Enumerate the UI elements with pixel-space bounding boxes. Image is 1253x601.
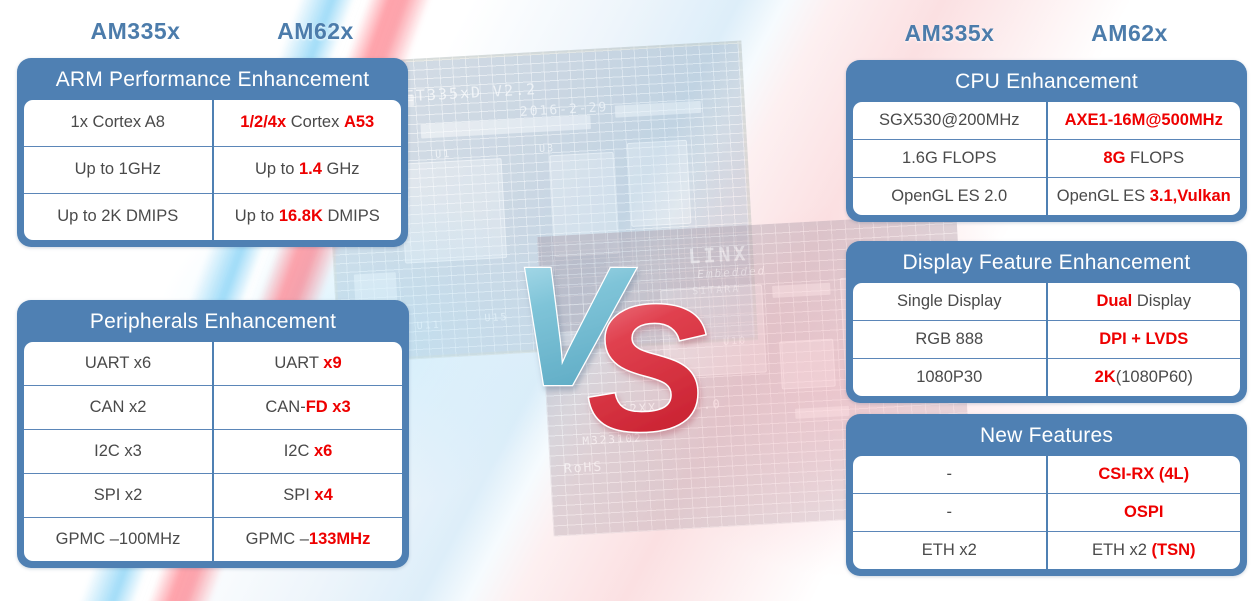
comparison-table: 1x Cortex A81/2/4x Cortex A53Up to 1GHzU…: [24, 100, 401, 240]
cell-am62x: GPMC –133MHz: [213, 517, 402, 561]
cell-am62x: CSI-RX (4L): [1047, 456, 1241, 494]
table-row: -OSPI: [853, 493, 1240, 531]
table-row: 1080P302K(1080P60): [853, 358, 1240, 396]
cell-am62x: UART x9: [213, 342, 402, 386]
panel-title: Peripherals Enhancement: [24, 307, 402, 342]
table-row: SGX530@200MHzAXE1-16M@500MHz: [853, 102, 1240, 140]
comparison-table: Single DisplayDual DisplayRGB 888DPI + L…: [853, 283, 1240, 396]
highlight-text: Dual: [1097, 292, 1133, 310]
highlight-text: 1/2/4x: [240, 113, 286, 131]
comparison-table: UART x6UART x9CAN x2CAN-FD x3I2C x3I2C x…: [24, 342, 402, 561]
cell-am335x: Up to 1GHz: [24, 146, 213, 193]
cell-am62x: DPI + LVDS: [1047, 320, 1241, 358]
board-pad-row: [420, 115, 591, 138]
table-row: GPMC –100MHzGPMC –133MHz: [24, 517, 402, 561]
highlight-text: FD x3: [306, 398, 351, 416]
cell-am335x: SGX530@200MHz: [853, 102, 1047, 140]
cell-am62x: Dual Display: [1047, 283, 1241, 321]
board-left-label: FET335xD V2.2: [393, 80, 537, 106]
plain-text: SPI: [283, 486, 314, 504]
cell-am62x: Up to 1.4 GHz: [213, 146, 402, 193]
vs-letter-s: S: [587, 268, 707, 440]
plain-text: I2C: [284, 442, 314, 460]
plain-text: Cortex: [286, 113, 344, 131]
highlight-text: 133MHz: [309, 530, 370, 548]
highlight-text: 1.4: [299, 160, 322, 178]
column-heading-right-am62x: AM62x: [1042, 20, 1217, 47]
plain-text: GPMC –: [246, 530, 309, 548]
board-left-ref-u3: U3: [539, 143, 556, 155]
table-row: 1.6G FLOPS8G FLOPS: [853, 139, 1240, 177]
column-heading-left-am62x: AM62x: [228, 18, 403, 45]
panel-title: Display Feature Enhancement: [853, 248, 1240, 283]
cell-am62x: I2C x6: [213, 429, 402, 473]
highlight-text: DPI + LVDS: [1099, 330, 1188, 348]
board-left-ref-u1: U1: [435, 149, 452, 161]
cell-am335x: -: [853, 456, 1047, 494]
cell-am335x: CAN x2: [24, 385, 213, 429]
highlight-text: x4: [314, 486, 332, 504]
table-row: Single DisplayDual Display: [853, 283, 1240, 321]
panel-title: ARM Performance Enhancement: [24, 65, 401, 100]
cell-am335x: -: [853, 493, 1047, 531]
cell-am335x: 1.6G FLOPS: [853, 139, 1047, 177]
highlight-text: CSI-RX (4L): [1098, 465, 1189, 483]
panel-cpu-enhancement: CPU Enhancement SGX530@200MHzAXE1-16M@50…: [846, 60, 1247, 222]
plain-text: ETH x2: [1092, 541, 1152, 559]
panel-display-feature: Display Feature Enhancement Single Displ…: [846, 241, 1247, 403]
table-row: -CSI-RX (4L): [853, 456, 1240, 494]
versus-graphic: V S: [505, 225, 725, 440]
cell-am335x: RGB 888: [853, 320, 1047, 358]
cell-am62x: OpenGL ES 3.1,Vulkan: [1047, 177, 1241, 215]
highlight-text: (TSN): [1152, 541, 1196, 559]
highlight-text: A53: [344, 113, 374, 131]
table-row: UART x6UART x9: [24, 342, 402, 386]
plain-text: FLOPS: [1125, 149, 1184, 167]
column-heading-right-am335x: AM335x: [862, 20, 1037, 47]
plain-text: Display: [1132, 292, 1191, 310]
cell-am62x: OSPI: [1047, 493, 1241, 531]
plain-text: (1080P60): [1116, 368, 1193, 386]
highlight-text: AXE1-16M@500MHz: [1065, 111, 1223, 129]
svg-text:S: S: [587, 268, 707, 440]
cell-am62x: 8G FLOPS: [1047, 139, 1241, 177]
cell-am62x: 2K(1080P60): [1047, 358, 1241, 396]
cell-am335x: GPMC –100MHz: [24, 517, 213, 561]
plain-text: UART: [274, 354, 323, 372]
table-row: 1x Cortex A81/2/4x Cortex A53: [24, 100, 401, 147]
table-row: ETH x2ETH x2 (TSN): [853, 531, 1240, 569]
board-pad-row: [615, 101, 702, 118]
plain-text: GHz: [322, 160, 360, 178]
table-row: RGB 888DPI + LVDS: [853, 320, 1240, 358]
cell-am335x: Up to 2K DMIPS: [24, 193, 213, 240]
panel-peripherals: Peripherals Enhancement UART x6UART x9CA…: [17, 300, 409, 568]
cell-am335x: ETH x2: [853, 531, 1047, 569]
highlight-text: OSPI: [1124, 503, 1163, 521]
panel-arm-performance: ARM Performance Enhancement 1x Cortex A8…: [17, 58, 408, 247]
table-row: Up to 1GHzUp to 1.4 GHz: [24, 146, 401, 193]
plain-text: Up to: [255, 160, 299, 178]
highlight-text: x6: [314, 442, 332, 460]
table-row: CAN x2CAN-FD x3: [24, 385, 402, 429]
table-row: OpenGL ES 2.0OpenGL ES 3.1,Vulkan: [853, 177, 1240, 215]
panel-new-features: New Features -CSI-RX (4L)-OSPIETH x2ETH …: [846, 414, 1247, 576]
highlight-text: 16.8K: [279, 207, 323, 225]
cell-am62x: AXE1-16M@500MHz: [1047, 102, 1241, 140]
cell-am62x: Up to 16.8K DMIPS: [213, 193, 402, 240]
comparison-table: -CSI-RX (4L)-OSPIETH x2ETH x2 (TSN): [853, 456, 1240, 569]
highlight-text: x9: [323, 354, 341, 372]
cell-am335x: 1080P30: [853, 358, 1047, 396]
cell-am335x: 1x Cortex A8: [24, 100, 213, 147]
table-row: SPI x2SPI x4: [24, 473, 402, 517]
plain-text: Up to: [235, 207, 279, 225]
plain-text: CAN-: [265, 398, 305, 416]
table-row: I2C x3I2C x6: [24, 429, 402, 473]
comparison-table: SGX530@200MHzAXE1-16M@500MHz1.6G FLOPS8G…: [853, 102, 1240, 215]
table-row: Up to 2K DMIPSUp to 16.8K DMIPS: [24, 193, 401, 240]
cell-am335x: I2C x3: [24, 429, 213, 473]
plain-text: DMIPS: [323, 207, 380, 225]
highlight-text: 2K: [1095, 368, 1116, 386]
plain-text: OpenGL ES: [1057, 187, 1150, 205]
column-heading-left-am335x: AM335x: [48, 18, 223, 45]
highlight-text: 3.1,Vulkan: [1150, 187, 1231, 205]
cell-am62x: ETH x2 (TSN): [1047, 531, 1241, 569]
cell-am62x: SPI x4: [213, 473, 402, 517]
cell-am335x: Single Display: [853, 283, 1047, 321]
cell-am335x: UART x6: [24, 342, 213, 386]
panel-title: CPU Enhancement: [853, 67, 1240, 102]
highlight-text: 8G: [1103, 149, 1125, 167]
panel-title: New Features: [853, 421, 1240, 456]
cell-am62x: 1/2/4x Cortex A53: [213, 100, 402, 147]
cell-am335x: SPI x2: [24, 473, 213, 517]
cell-am62x: CAN-FD x3: [213, 385, 402, 429]
cell-am335x: OpenGL ES 2.0: [853, 177, 1047, 215]
